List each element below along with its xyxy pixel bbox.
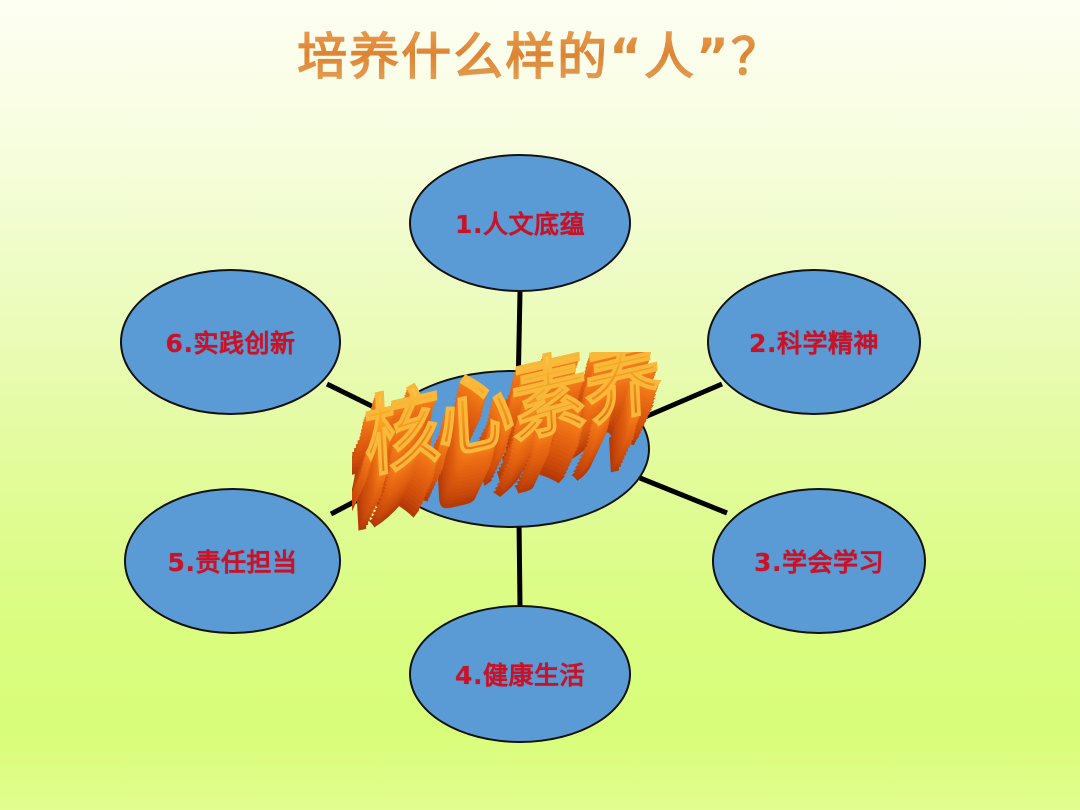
node-label: 3.学会学习 xyxy=(754,543,884,579)
slide-canvas: 培养什么样的“人”？ xyxy=(0,0,1080,810)
connector-line-4 xyxy=(519,520,520,606)
connector-line-3 xyxy=(640,478,727,513)
node-learning-to-learn[interactable]: 3.学会学习 xyxy=(712,488,926,634)
node-label: 2.科学精神 xyxy=(749,324,879,360)
core-competency-diagram: 核心素养 核心素养 核心素养 核心素养 核心素养 核心素养 核心素养 核心素养 … xyxy=(0,0,1080,810)
node-practice-innovation[interactable]: 6.实践创新 xyxy=(120,269,341,415)
node-responsibility[interactable]: 5.责任担当 xyxy=(124,488,341,634)
node-label: 4.健康生活 xyxy=(455,656,585,692)
node-label: 5.责任担当 xyxy=(168,543,298,579)
node-label: 1.人文底蕴 xyxy=(455,205,585,241)
node-humanistic-foundation[interactable]: 1.人文底蕴 xyxy=(409,154,631,292)
connector-line-5 xyxy=(331,482,392,514)
connector-line-2 xyxy=(638,384,722,420)
node-scientific-spirit[interactable]: 2.科学精神 xyxy=(707,269,921,415)
node-label: 6.实践创新 xyxy=(166,324,296,360)
node-healthy-living[interactable]: 4.健康生活 xyxy=(409,605,631,743)
center-node[interactable] xyxy=(373,370,650,528)
